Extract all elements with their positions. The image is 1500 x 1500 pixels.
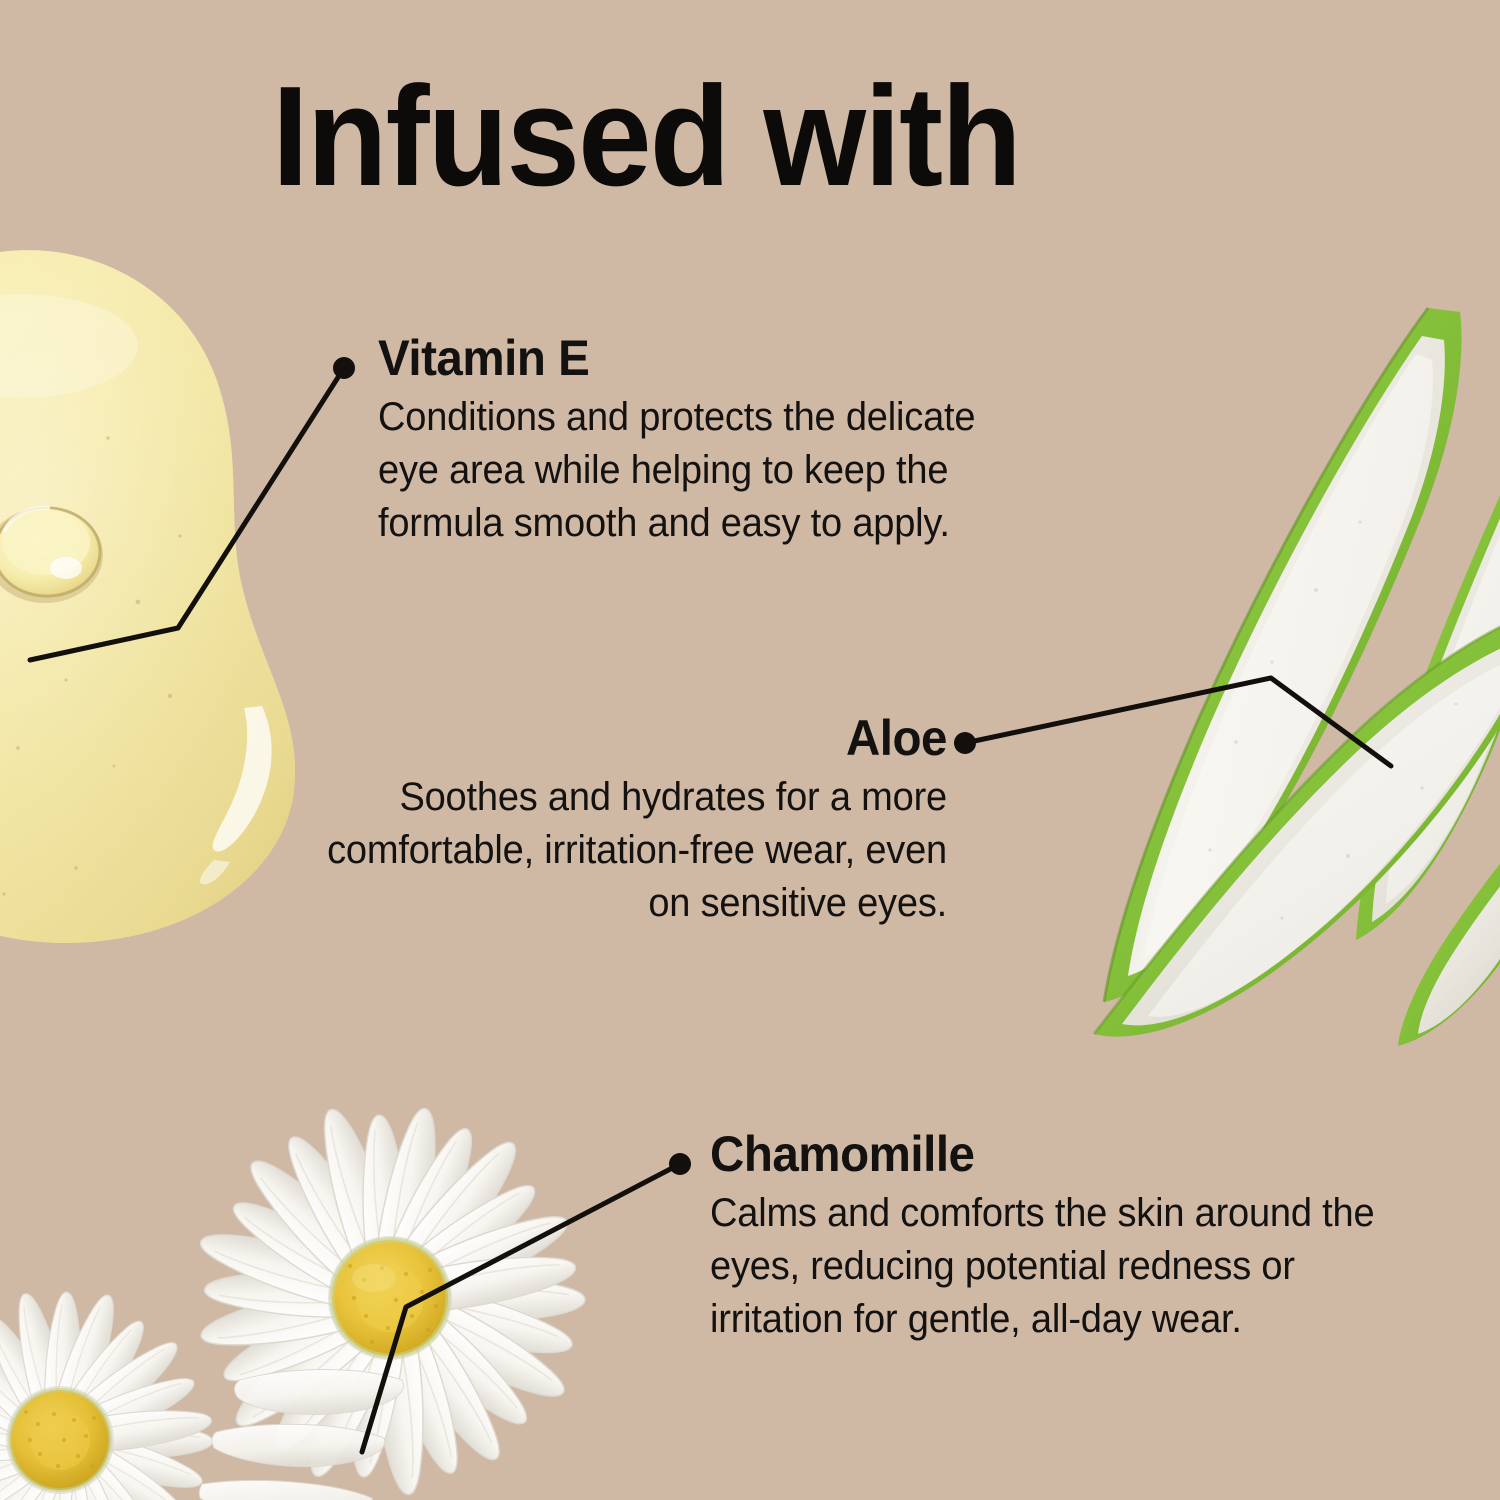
ingredient-description-vitamin-e: Conditions and protects the delicate eye… <box>378 391 1043 550</box>
callout-dot-chamomille <box>669 1153 691 1175</box>
ingredient-title-chamomille: Chamomille <box>710 1128 1375 1181</box>
ingredient-description-chamomille: Calms and comforts the skin around the e… <box>710 1187 1375 1346</box>
ingredient-block-vitamin-e: Vitamin E Conditions and protects the de… <box>378 332 1078 550</box>
ingredient-title-aloe: Aloe <box>301 712 947 765</box>
chamomile-flowers-illustration <box>0 1080 670 1500</box>
aloe-leaves-illustration <box>1030 290 1500 1050</box>
page-title: Infused with <box>272 66 1020 208</box>
callout-dot-aloe <box>954 732 976 754</box>
infographic-canvas: Infused with Vitamin E Conditions and pr… <box>0 0 1500 1500</box>
ingredient-description-aloe: Soothes and hydrates for a more comforta… <box>301 771 947 930</box>
ingredient-title-vitamin-e: Vitamin E <box>378 332 1043 385</box>
callout-dot-vitamin-e <box>333 357 355 379</box>
ingredient-block-aloe: Aloe Soothes and hydrates for a more com… <box>267 712 947 930</box>
ingredient-block-chamomille: Chamomille Calms and comforts the skin a… <box>710 1128 1410 1346</box>
